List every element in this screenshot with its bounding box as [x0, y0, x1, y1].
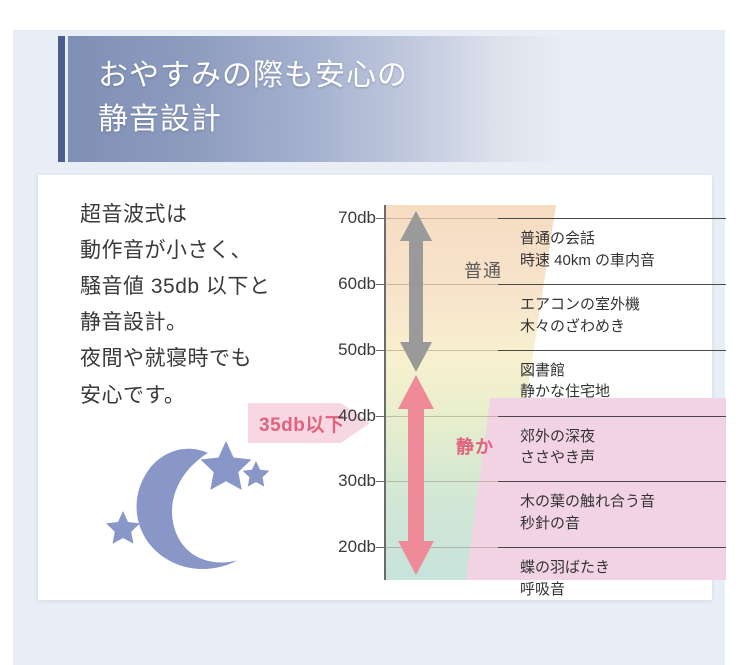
header-accent-bar [58, 36, 65, 162]
header-banner: おやすみの際も安心の 静音設計 [58, 36, 618, 162]
lead-paragraph: 超音波式は 動作音が小さく、 騒音値 35db 以下と 静音設計。 夜間や就寝時… [80, 197, 270, 414]
chart-row-label: 郊外の深夜 [520, 426, 726, 448]
chart-row-label: 秒針の音 [520, 513, 726, 535]
chart-row-label: 静かな住宅地 [520, 381, 726, 403]
header-gradient-band: おやすみの際も安心の 静音設計 [68, 36, 618, 162]
chart-row-label: 図書館 [520, 360, 726, 382]
axis-tick-label: 30db [306, 471, 376, 491]
chart-row-label: 普通の会話 [520, 228, 726, 250]
decibel-chart: 70db60db50db40db30db20db 普通の会話時速 40km の車… [336, 195, 688, 585]
page-margin-left [0, 0, 13, 665]
axis-tick-mark [376, 284, 386, 285]
page-title: おやすみの際も安心の 静音設計 [98, 54, 408, 141]
axis-tick-label: 70db [306, 208, 376, 228]
range-label-quiet: 静か [456, 433, 494, 459]
chart-row: エアコンの室外機木々のざわめき [498, 284, 726, 350]
axis-tick-mark [376, 547, 386, 548]
chart-row-label: エアコンの室外機 [520, 294, 726, 316]
chart-row: 図書館静かな住宅地 [498, 350, 726, 416]
star-icon [106, 511, 140, 544]
chart-row: 木の葉の触れ合う音秒針の音 [498, 481, 726, 547]
chart-row: 普通の会話時速 40km の車内音 [498, 218, 726, 284]
chart-row-label: 木の葉の触れ合う音 [520, 491, 726, 513]
range-label-normal: 普通 [464, 257, 502, 283]
chart-row-label: ささやき声 [520, 447, 726, 469]
infographic-page: おやすみの際も安心の 静音設計 超音波式は 動作音が小さく、 騒音値 35db … [0, 0, 750, 665]
chart-row-group: 普通の会話時速 40km の車内音エアコンの室外機木々のざわめき図書館静かな住宅… [498, 205, 726, 580]
star-icon [243, 461, 270, 487]
axis-tick-label: 50db [306, 340, 376, 360]
chart-row: 蝶の羽ばたき呼吸音 [498, 547, 726, 580]
axis-tick-mark [376, 350, 386, 351]
axis-tick-label: 40db [306, 406, 376, 426]
chart-row: 郊外の深夜ささやき声 [498, 416, 726, 482]
chart-row-label: 蝶の羽ばたき [520, 557, 726, 579]
axis-tick-mark [376, 416, 386, 417]
chart-row-label: 時速 40km の車内音 [520, 250, 726, 272]
page-margin-top [0, 0, 750, 30]
star-icon [201, 441, 252, 490]
content-card: 超音波式は 動作音が小さく、 騒音値 35db 以下と 静音設計。 夜間や就寝時… [38, 175, 712, 600]
chart-y-axis [384, 205, 386, 580]
axis-tick-mark [376, 218, 386, 219]
quiet-range-arrow [394, 373, 438, 577]
chart-row-label: 呼吸音 [520, 579, 726, 601]
axis-tick-label: 60db [306, 274, 376, 294]
axis-tick-label: 20db [306, 537, 376, 557]
normal-range-arrow [396, 209, 436, 374]
axis-tick-mark [376, 481, 386, 482]
page-margin-right [725, 0, 750, 665]
chart-row-label: 木々のざわめき [520, 316, 726, 338]
